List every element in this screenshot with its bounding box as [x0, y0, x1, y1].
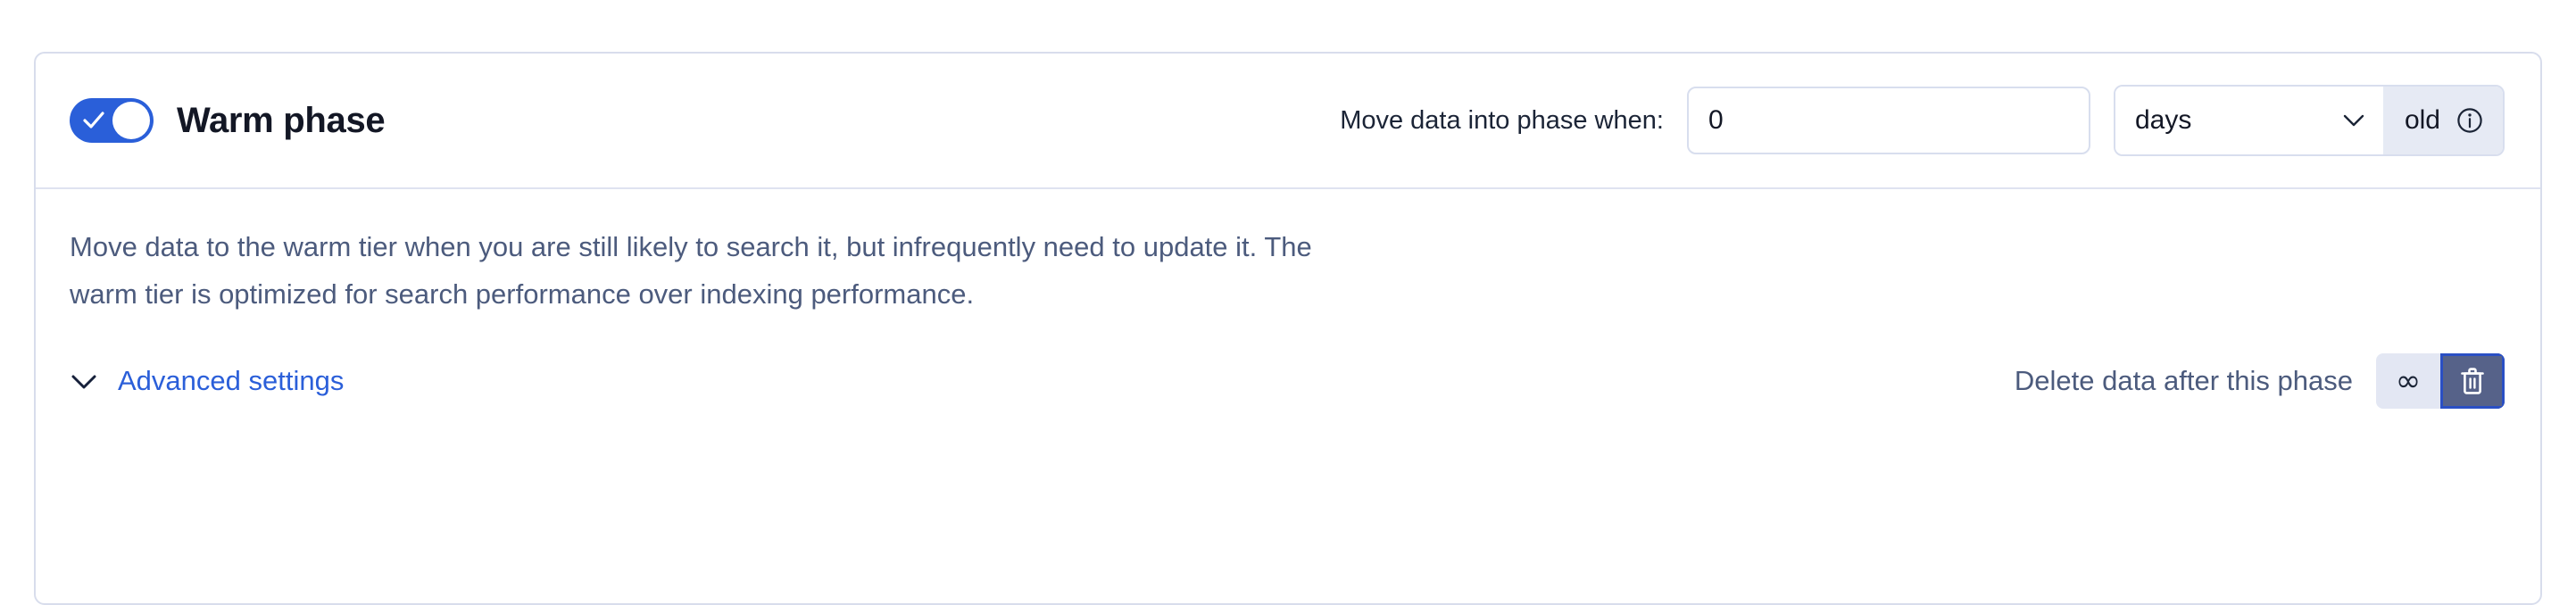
- delete-data-area: Delete data after this phase ∞: [2015, 353, 2505, 409]
- phase-description: Move data to the warm tier when you are …: [70, 223, 1346, 318]
- min-age-append: old: [2383, 87, 2503, 154]
- min-age-input[interactable]: [1687, 87, 2090, 154]
- min-age-unit-select[interactable]: days: [2115, 87, 2383, 154]
- info-circle-icon[interactable]: [2456, 107, 2483, 134]
- min-age-unit-value: days: [2135, 105, 2191, 136]
- screen-root: Warm phase Move data into phase when: da…: [0, 0, 2576, 530]
- advanced-settings-toggle[interactable]: Advanced settings: [70, 365, 344, 397]
- delete-data-label: Delete data after this phase: [2015, 365, 2353, 397]
- checkmark-icon: [82, 110, 105, 131]
- phase-header: Warm phase Move data into phase when: da…: [36, 54, 2540, 189]
- delete-phase-button-group: ∞: [2376, 353, 2505, 409]
- delete-data-button[interactable]: [2440, 353, 2505, 409]
- warm-phase-panel: Warm phase Move data into phase when: da…: [34, 52, 2542, 605]
- phase-header-left: Warm phase: [70, 98, 385, 143]
- chevron-down-icon: [70, 373, 98, 390]
- warm-phase-toggle[interactable]: [70, 98, 154, 143]
- chevron-down-icon: [2342, 113, 2365, 128]
- phase-header-right: Move data into phase when: days old: [1340, 85, 2505, 156]
- min-age-label: Move data into phase when:: [1340, 106, 1664, 136]
- keep-data-forever-button[interactable]: ∞: [2376, 353, 2440, 409]
- toggle-knob: [112, 102, 150, 139]
- phase-body-footer: Advanced settings Delete data after this…: [70, 353, 2505, 409]
- infinity-icon: ∞: [2396, 366, 2421, 396]
- advanced-settings-label: Advanced settings: [118, 365, 344, 397]
- phase-body: Move data to the warm tier when you are …: [36, 189, 2540, 409]
- min-age-append-text: old: [2405, 105, 2440, 136]
- min-age-unit-group: days old: [2114, 85, 2505, 156]
- phase-title: Warm phase: [177, 101, 385, 141]
- trash-icon: [2460, 367, 2485, 395]
